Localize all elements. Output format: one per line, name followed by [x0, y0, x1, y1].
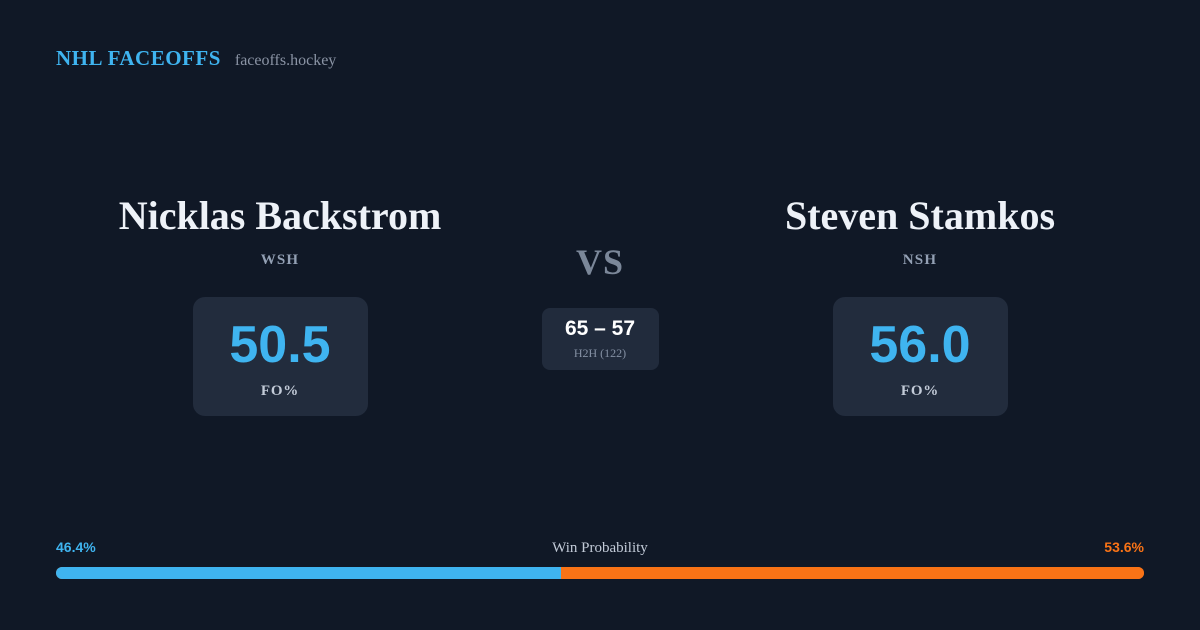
stat-label-left: FO% — [261, 383, 299, 400]
matchup-section: Nicklas Backstrom WSH 50.5 FO% VS 65 – 5… — [0, 196, 1200, 416]
head-to-head-record: 65 – 57 — [565, 318, 635, 339]
player-team-right: NSH — [903, 252, 937, 269]
player-card-left: Nicklas Backstrom WSH 50.5 FO% — [60, 196, 500, 416]
site-header: NHL FACEOFFS faceoffs.hockey — [56, 46, 336, 71]
head-to-head-label: H2H (122) — [574, 346, 626, 361]
win-probability-bar-left — [56, 567, 561, 579]
stat-value-right: 56.0 — [869, 319, 970, 371]
site-domain: faceoffs.hockey — [235, 52, 336, 70]
win-probability-labels: 46.4% Win Probability 53.6% — [56, 539, 1144, 557]
stat-card-left: 50.5 FO% — [193, 297, 368, 416]
player-name-right: Steven Stamkos — [785, 196, 1055, 236]
player-team-left: WSH — [261, 252, 300, 269]
versus-label: VS — [576, 244, 624, 280]
stat-card-right: 56.0 FO% — [833, 297, 1008, 416]
player-card-right: Steven Stamkos NSH 56.0 FO% — [700, 196, 1140, 416]
win-probability-left-value: 46.4% — [56, 539, 96, 555]
win-probability-bar — [56, 567, 1144, 579]
stat-label-right: FO% — [901, 383, 939, 400]
player-name-left: Nicklas Backstrom — [119, 196, 442, 236]
win-probability-bar-right — [561, 567, 1144, 579]
stat-value-left: 50.5 — [229, 319, 330, 371]
win-probability-title: Win Probability — [552, 540, 648, 557]
versus-column: VS 65 – 57 H2H (122) — [500, 196, 700, 370]
win-probability-section: 46.4% Win Probability 53.6% — [56, 539, 1144, 579]
win-probability-right-value: 53.6% — [1104, 539, 1144, 555]
head-to-head-card: 65 – 57 H2H (122) — [542, 308, 659, 370]
brand-title: NHL FACEOFFS — [56, 46, 221, 71]
